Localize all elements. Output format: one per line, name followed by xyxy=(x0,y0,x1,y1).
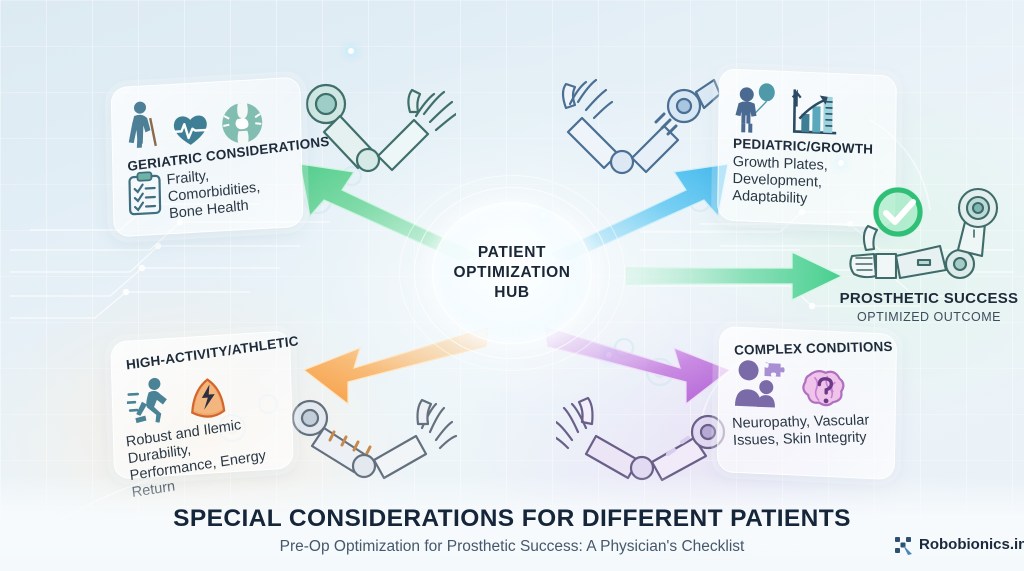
clipboard-checklist-icon xyxy=(127,171,162,217)
infographic-canvas: PATIENT OPTIMIZATION HUB xyxy=(0,0,1024,571)
patient-optimization-hub[interactable]: PATIENT OPTIMIZATION HUB xyxy=(392,172,632,374)
child-with-balloon-icon xyxy=(733,82,780,136)
prosthetic-success-block[interactable]: PROSTHETIC SUCCESS OPTIMIZED OUTCOME xyxy=(836,186,1022,336)
card-geriatric-desc: Frailty, Comorbidities, Bone Health xyxy=(166,160,289,224)
muscle-energy-bolt-icon xyxy=(184,372,231,421)
card-complex-icons xyxy=(733,356,882,415)
brain-question-icon xyxy=(797,367,848,413)
heart-pulse-icon xyxy=(170,111,211,149)
card-complex-title: COMPLEX CONDITIONS xyxy=(734,339,882,358)
card-complex-desc: Neuropathy, Vascular Issues, Skin Integr… xyxy=(732,412,881,450)
knee-joint-icon xyxy=(220,100,265,146)
glow-spark xyxy=(348,48,354,54)
robobionics-logo[interactable]: Robobionics.in xyxy=(892,534,1024,556)
card-high-activity-athletic[interactable]: HIGH-ACTIVITY/ATHLETIC Robust and Ilemic xyxy=(110,330,294,479)
hub-label-line2: OPTIMIZATION xyxy=(453,263,570,283)
prosthetic-success-graphic xyxy=(836,186,1022,290)
page-title: SPECIAL CONSIDERATIONS FOR DIFFERENT PAT… xyxy=(0,505,1024,533)
logo-name: Robobionics.in xyxy=(919,537,1024,552)
prosthetic-success-label: PROSTHETIC SUCCESS xyxy=(836,290,1022,307)
card-geriatric-considerations[interactable]: GERIATRIC CONSIDERATIONS Frailty, Comorb… xyxy=(111,77,304,238)
arrow-hub-to-success xyxy=(626,248,846,304)
growth-chart-icon xyxy=(789,86,840,138)
glow-spark xyxy=(306,424,312,430)
green-check-circle-icon xyxy=(873,187,923,237)
prosthetic-success-sublabel: OPTIMIZED OUTCOME xyxy=(836,310,1022,324)
card-complex-conditions[interactable]: COMPLEX CONDITIONS xyxy=(717,326,897,480)
elderly-person-with-cane-icon xyxy=(126,100,161,152)
hub-label-line1: PATIENT xyxy=(453,243,570,263)
page-subtitle: Pre-Op Optimization for Prosthetic Succe… xyxy=(0,538,1024,556)
robotic-arm-thumbs-up-icon xyxy=(850,189,997,278)
family-puzzle-icon xyxy=(733,358,788,410)
hub-label: PATIENT OPTIMIZATION HUB xyxy=(453,243,570,302)
hub-label-line3: HUB xyxy=(453,283,570,303)
robobionics-logo-icon xyxy=(892,534,914,556)
running-person-icon xyxy=(126,376,175,425)
card-pediatric-icons xyxy=(733,80,882,140)
